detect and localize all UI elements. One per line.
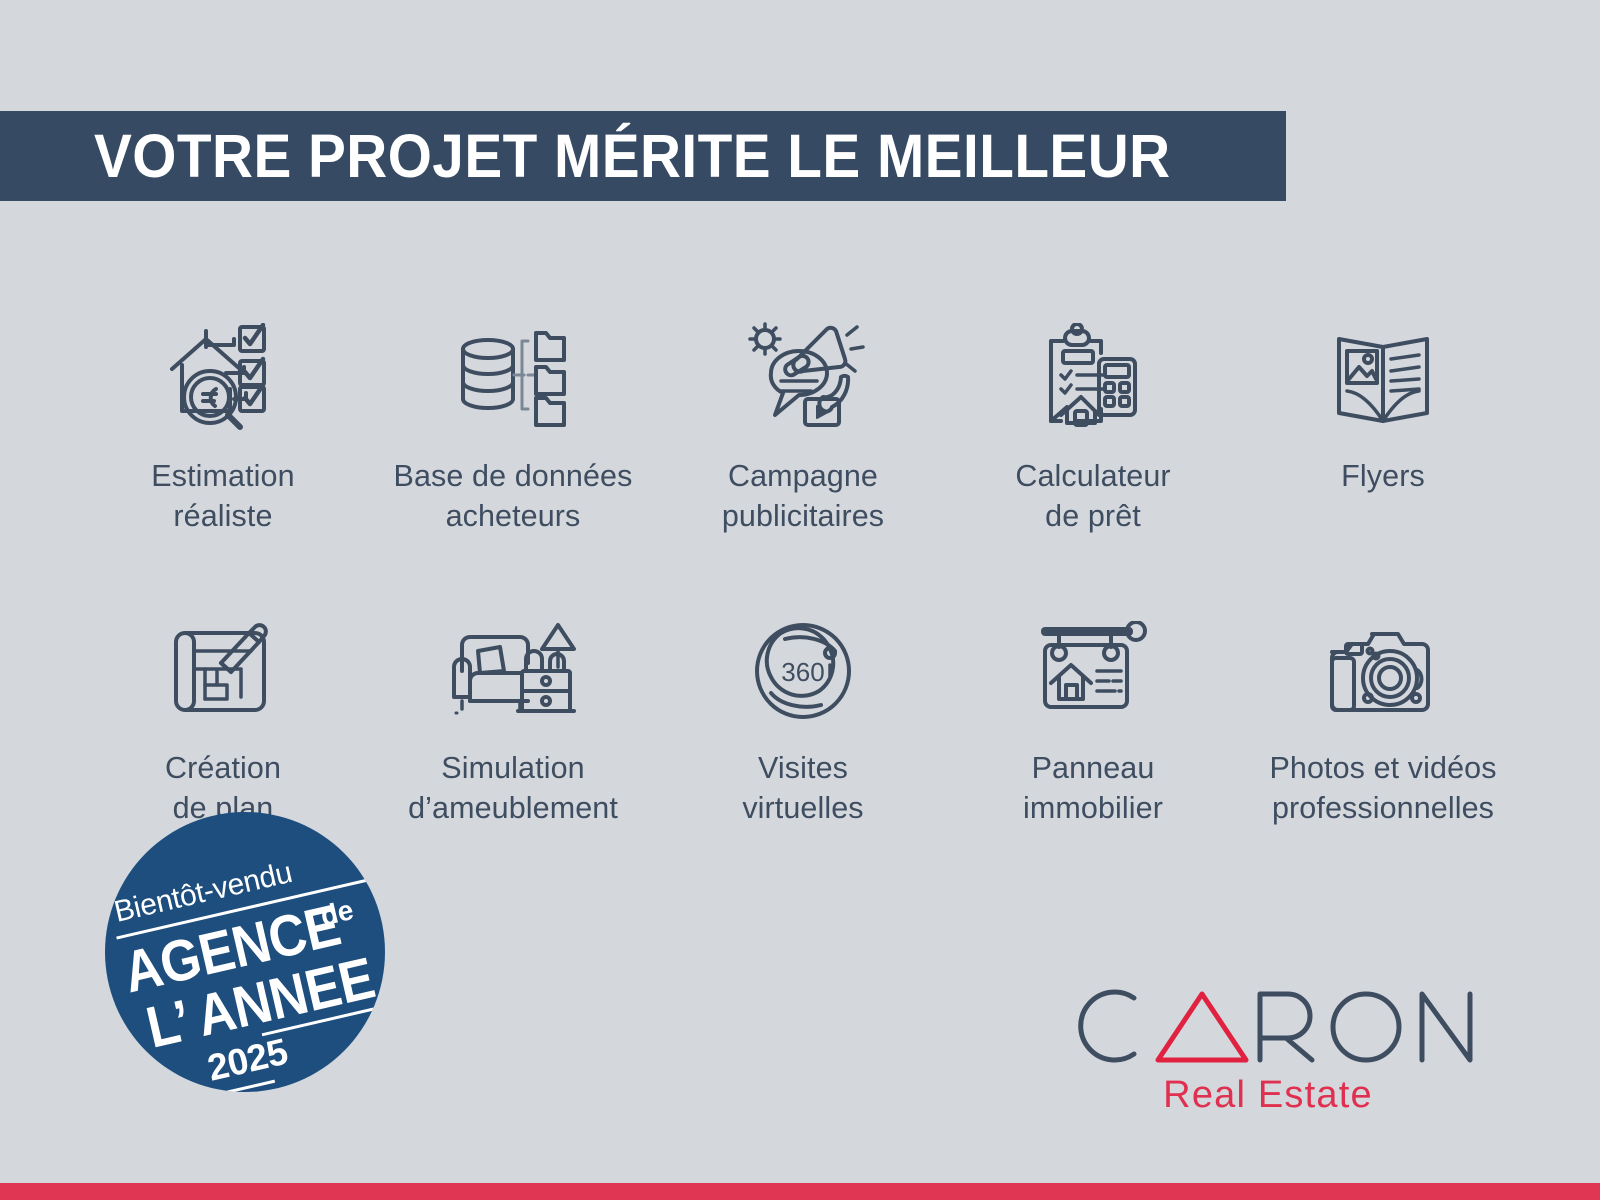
globe-360-icon: 360 [751,612,855,730]
dslr-camera-icon [1324,612,1442,730]
feature-row-2: Création de plan [78,612,1528,829]
clipboard-calculator-house-icon [1037,320,1149,438]
megaphone-campaign-icon [741,320,865,438]
feature-label: Base de données acheteurs [394,456,633,537]
svg-text:360: 360 [781,657,824,687]
feature-estimation-realiste[interactable]: Estimation réaliste [78,320,368,537]
feature-flyers[interactable]: Flyers [1238,320,1528,537]
hanging-property-sign-icon [1037,612,1149,730]
feature-label: Flyers [1341,456,1425,496]
bottom-accent-stripe [0,1183,1600,1200]
feature-label: Panneau immobilier [1023,748,1163,829]
feature-label: Estimation réaliste [151,456,294,537]
feature-label: Campagne publicitaires [722,456,884,537]
feature-row-1: Estimation réaliste Base de données [78,320,1528,537]
feature-panneau-immobilier[interactable]: Panneau immobilier [948,612,1238,829]
database-folders-icon [454,320,572,438]
feature-calculateur-de-pret[interactable]: Calculateur de prêt [948,320,1238,537]
feature-creation-de-plan[interactable]: Création de plan [78,612,368,829]
feature-photos-videos-professionnelles[interactable]: Photos et vidéos professionnelles [1238,612,1528,829]
page-title: VOTRE PROJET MÉRITE LE MEILLEUR [94,121,1171,191]
feature-label: Visites virtuelles [742,748,863,829]
award-badge: Bientôt-vendu AGENCE de L’ ANNEE 2025 [105,812,385,1092]
open-brochure-icon [1333,320,1433,438]
feature-visites-virtuelles[interactable]: 360 Visites virtuelles [658,612,948,829]
brand-tagline: Real Estate [1058,1074,1478,1117]
blueprint-pencil-icon [171,612,275,730]
title-banner: VOTRE PROJET MÉRITE LE MEILLEUR [0,111,1286,201]
feature-label: Calculateur de prêt [1015,456,1170,537]
features-grid: Estimation réaliste Base de données [78,320,1528,828]
badge-content: Bientôt-vendu AGENCE de L’ ANNEE 2025 [105,812,385,1092]
feature-base-de-donnees-acheteurs[interactable]: Base de données acheteurs [368,320,658,537]
feature-label: Simulation d’ameublement [408,748,618,829]
feature-campagne-publicitaires[interactable]: Campagne publicitaires [658,320,948,537]
badge-main-line-1-suffix: de [317,894,356,933]
sofa-lamp-dresser-icon [450,612,576,730]
feature-label: Photos et vidéos professionnelles [1269,748,1496,829]
feature-simulation-ameublement[interactable]: Simulation d’ameublement [368,612,658,829]
brand-logo: Real Estate [1058,978,1478,1128]
house-euro-checklist-icon [164,320,282,438]
brand-wordmark [1058,978,1478,1074]
